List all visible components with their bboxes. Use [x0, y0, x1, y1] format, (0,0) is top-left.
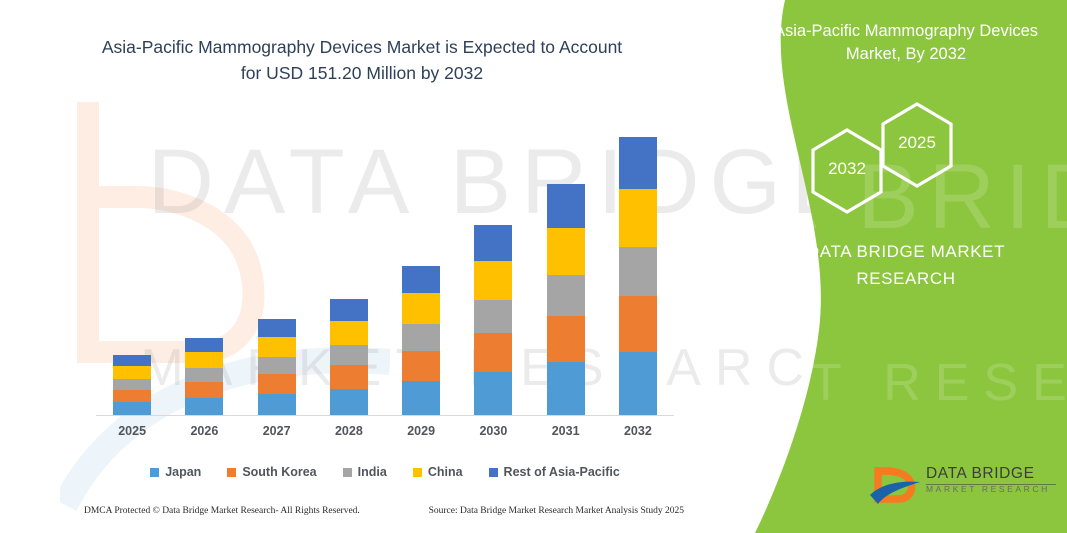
- hexagon-2032-label: 2032: [807, 159, 887, 179]
- infographic-root: DATA BRIDGE MARKET RESEARCH Asia-Pacific…: [0, 0, 1067, 533]
- legend-label: Rest of Asia-Pacific: [504, 465, 620, 479]
- brand-panel-content: Asia-Pacific Mammography Devices Market,…: [667, 0, 1067, 533]
- bar-segment: [402, 324, 440, 350]
- bar-segment: [185, 398, 223, 415]
- legend-item[interactable]: Japan: [150, 465, 201, 479]
- x-axis-labels: 20252026202720282029203020312032: [96, 424, 674, 438]
- bar-segment: [474, 225, 512, 261]
- legend-swatch: [227, 468, 236, 477]
- bar-segment: [185, 368, 223, 382]
- bar-segment: [258, 394, 296, 415]
- stacked-bar: [474, 225, 512, 415]
- bar-segment: [619, 247, 657, 296]
- bar-column: [602, 120, 674, 415]
- legend-swatch: [489, 468, 498, 477]
- brand-name: DATA BRIDGE MARKET RESEARCH: [763, 238, 1049, 292]
- stacked-bar: [185, 338, 223, 415]
- footer-copyright: DMCA Protected © Data Bridge Market Rese…: [84, 506, 360, 516]
- x-axis-line: [96, 415, 674, 416]
- chart-legend: JapanSouth KoreaIndiaChinaRest of Asia-P…: [96, 465, 674, 479]
- panel-title: Asia-Pacific Mammography Devices Market,…: [763, 20, 1049, 66]
- legend-swatch: [343, 468, 352, 477]
- legend-label: Japan: [165, 465, 201, 479]
- stacked-bar: [619, 137, 657, 415]
- bar-segment: [619, 296, 657, 352]
- footer-source: Source: Data Bridge Market Research Mark…: [429, 506, 684, 516]
- bar-segment: [258, 319, 296, 337]
- hexagon-2025-label: 2025: [877, 133, 957, 153]
- x-axis-label: 2026: [168, 424, 240, 438]
- brand-name-line1: DATA BRIDGE MARKET: [763, 238, 1049, 265]
- x-axis-label: 2028: [313, 424, 385, 438]
- bar-segment: [474, 372, 512, 415]
- brand-name-line2: RESEARCH: [763, 265, 1049, 292]
- bar-segment: [619, 352, 657, 415]
- bar-segment: [113, 379, 151, 390]
- bar-segment: [185, 352, 223, 368]
- hexagon-group: 2025 2032: [785, 100, 1035, 210]
- stacked-bar: [402, 266, 440, 416]
- x-axis-label: 2027: [241, 424, 313, 438]
- legend-item[interactable]: China: [413, 465, 463, 479]
- bar-column: [168, 120, 240, 415]
- x-axis-label: 2030: [457, 424, 529, 438]
- x-axis-label: 2029: [385, 424, 457, 438]
- bar-column: [313, 120, 385, 415]
- bar-segment: [330, 345, 368, 366]
- legend-label: India: [358, 465, 387, 479]
- bar-segment: [113, 355, 151, 367]
- bar-segment: [474, 300, 512, 333]
- bar-segment: [258, 357, 296, 374]
- bar-column: [457, 120, 529, 415]
- bar-segment: [258, 337, 296, 357]
- x-axis-label: 2031: [530, 424, 602, 438]
- bar-segment: [547, 184, 585, 227]
- bar-segment: [547, 362, 585, 415]
- bar-segment: [402, 381, 440, 415]
- stacked-bar: [258, 319, 296, 415]
- bar-segment: [547, 275, 585, 316]
- x-axis-label: 2025: [96, 424, 168, 438]
- stacked-bar-chart: [96, 120, 674, 415]
- bar-segment: [547, 316, 585, 363]
- bar-column: [385, 120, 457, 415]
- bar-segment: [402, 266, 440, 294]
- bar-segment: [330, 299, 368, 321]
- bar-column: [530, 120, 602, 415]
- bar-segment: [330, 321, 368, 345]
- bar-segment: [330, 389, 368, 415]
- legend-item[interactable]: Rest of Asia-Pacific: [489, 465, 620, 479]
- bar-segment: [619, 189, 657, 247]
- legend-item[interactable]: South Korea: [227, 465, 316, 479]
- stacked-bar: [547, 184, 585, 415]
- logo-divider: [926, 484, 1056, 485]
- bar-segment: [547, 228, 585, 276]
- bar-column: [241, 120, 313, 415]
- legend-swatch: [150, 468, 159, 477]
- stacked-bar: [330, 299, 368, 415]
- legend-label: China: [428, 465, 463, 479]
- chart-title: Asia-Pacific Mammography Devices Market …: [92, 34, 632, 86]
- x-axis-label: 2032: [602, 424, 674, 438]
- legend-item[interactable]: India: [343, 465, 387, 479]
- bar-segment: [113, 402, 151, 415]
- bar-segment: [474, 333, 512, 371]
- data-bridge-logo: DATA BRIDGE MARKET RESEARCH: [868, 462, 1058, 510]
- bar-segment: [330, 365, 368, 389]
- bar-segment: [113, 366, 151, 379]
- hexagon-2025: 2025: [877, 100, 957, 190]
- bar-segment: [113, 390, 151, 402]
- bar-segment: [402, 293, 440, 324]
- bar-segment: [619, 137, 657, 189]
- logo-text: DATA BRIDGE MARKET RESEARCH: [926, 464, 1060, 496]
- bar-segment: [185, 382, 223, 398]
- logo-line1: DATA BRIDGE: [926, 464, 1060, 483]
- hexagon-2032: 2032: [807, 126, 887, 216]
- stacked-bar: [113, 355, 151, 415]
- bar-segment: [258, 374, 296, 393]
- bar-segment: [402, 351, 440, 381]
- legend-label: South Korea: [242, 465, 316, 479]
- legend-swatch: [413, 468, 422, 477]
- bar-segment: [474, 261, 512, 300]
- bar-segment: [185, 338, 223, 353]
- footer: DMCA Protected © Data Bridge Market Rese…: [84, 506, 684, 516]
- bar-column: [96, 120, 168, 415]
